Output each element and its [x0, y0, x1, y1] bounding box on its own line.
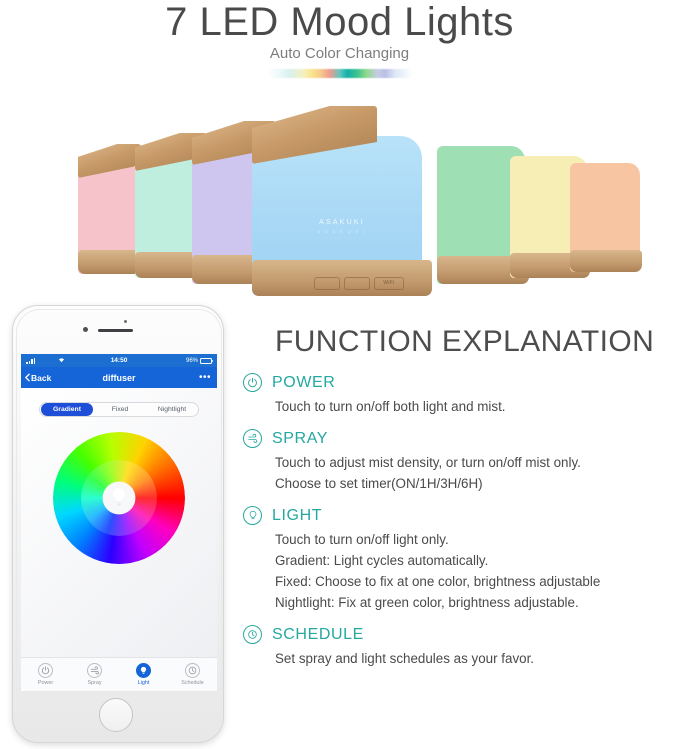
clock-icon: [243, 625, 262, 644]
description-line: Choose to set timer(ON/1H/3H/6H): [275, 473, 673, 494]
function-name-power: POWER: [272, 374, 335, 392]
function-block-light: LIGHT Touch to turn on/off light only. G…: [243, 506, 673, 613]
brand-logo: ASAKUKI: [252, 219, 432, 226]
status-time: 14:50: [21, 357, 217, 364]
tab-light[interactable]: Light: [119, 663, 168, 686]
function-block-spray: SPRAY Touch to adjust mist density, or t…: [243, 429, 673, 494]
function-name-light: LIGHT: [272, 507, 322, 525]
proximity-sensor-icon: [124, 320, 127, 323]
description-line: Touch to adjust mist density, or turn on…: [275, 452, 673, 473]
section-title: FUNCTION EXPLANATION: [275, 325, 673, 359]
function-header: LIGHT: [243, 506, 673, 525]
wifi-button[interactable]: WiFi: [374, 277, 404, 290]
spray-icon: [243, 429, 262, 448]
tab-nightlight[interactable]: Nightlight: [146, 403, 198, 416]
tab-spray-label: Spray: [87, 680, 101, 686]
home-button[interactable]: [99, 698, 133, 732]
phone-mockup: 14:50 96% Back diffuser ••• Gradient Fix…: [12, 305, 224, 743]
phone-screen: 14:50 96% Back diffuser ••• Gradient Fix…: [21, 354, 217, 691]
wood-base: [252, 260, 432, 296]
function-name-schedule: SCHEDULE: [272, 626, 364, 644]
clock-icon: [185, 663, 200, 678]
page-subtitle: Auto Color Changing: [0, 45, 679, 62]
color-wheel-picker[interactable]: [53, 432, 185, 564]
page-title-number: 7: [165, 0, 188, 44]
tab-power-label: Power: [38, 680, 53, 686]
base-button-mid[interactable]: [344, 277, 370, 290]
tab-power[interactable]: Power: [21, 663, 70, 686]
battery-icon: [200, 358, 212, 364]
wood-base: [570, 250, 642, 272]
description-line: Gradient: Light cycles automatically.: [275, 550, 673, 571]
function-description: Touch to turn on/off both light and mist…: [275, 396, 673, 417]
bulb-icon: [136, 663, 151, 678]
tab-fixed[interactable]: Fixed: [94, 403, 146, 416]
function-block-power: POWER Touch to turn on/off both light an…: [243, 373, 673, 417]
tab-spray[interactable]: Spray: [70, 663, 119, 686]
more-options-icon[interactable]: •••: [199, 372, 211, 383]
tab-light-label: Light: [138, 680, 150, 686]
wifi-button-label: WiFi: [375, 278, 403, 289]
bulb-icon: [243, 506, 262, 525]
function-block-schedule: SCHEDULE Set spray and light schedules a…: [243, 625, 673, 669]
page-title-rest: LED Mood Lights: [188, 0, 514, 44]
app-nav-bar: Back diffuser •••: [21, 367, 217, 388]
color-gradient-bar: [267, 69, 413, 78]
power-icon: [38, 663, 53, 678]
tab-schedule[interactable]: Schedule: [168, 663, 217, 686]
page-title: 7 LED Mood Lights: [0, 0, 679, 44]
app-tab-bar[interactable]: Power Spray: [21, 657, 217, 691]
function-header: SPRAY: [243, 429, 673, 448]
description-line: Fixed: Choose to fix at one color, brigh…: [275, 571, 673, 592]
app-content: Gradient Fixed Nightlight: [21, 388, 217, 691]
header-banner: 7 LED Mood Lights Auto Color Changing: [0, 0, 679, 96]
base-button-left[interactable]: [314, 277, 340, 290]
description-line: Touch to turn on/off both light and mist…: [275, 396, 673, 417]
diffuser-unit-peach: [570, 144, 642, 272]
mode-segmented-control[interactable]: Gradient Fixed Nightlight: [39, 402, 199, 417]
function-explanation-panel: FUNCTION EXPLANATION POWER Touch to turn…: [243, 325, 673, 681]
bulb-icon: [110, 487, 128, 509]
function-description: Touch to adjust mist density, or turn on…: [275, 452, 673, 494]
diffuser-unit-blue-center: ASAKUKI A S A K U K I WiFi: [252, 106, 432, 296]
tab-gradient[interactable]: Gradient: [41, 403, 93, 416]
function-description: Touch to turn on/off light only. Gradien…: [275, 529, 673, 613]
product-lineup: ASAKUKI A S A K U K I WiFi: [0, 96, 679, 296]
function-header: POWER: [243, 373, 673, 392]
front-camera-icon: [83, 327, 88, 332]
function-description: Set spray and light schedules as your fa…: [275, 648, 673, 669]
power-icon: [243, 373, 262, 392]
status-bar: 14:50 96%: [21, 354, 217, 367]
description-line: Set spray and light schedules as your fa…: [275, 648, 673, 669]
tab-schedule-label: Schedule: [181, 680, 203, 686]
app-title: diffuser: [21, 373, 217, 383]
brand-logo-sub: A S A K U K I: [252, 229, 432, 234]
description-line: Nightlight: Fix at green color, brightne…: [275, 592, 673, 613]
function-header: SCHEDULE: [243, 625, 673, 644]
spray-icon: [87, 663, 102, 678]
function-name-spray: SPRAY: [272, 430, 328, 448]
description-line: Touch to turn on/off light only.: [275, 529, 673, 550]
earpiece-speaker-icon: [98, 329, 133, 332]
